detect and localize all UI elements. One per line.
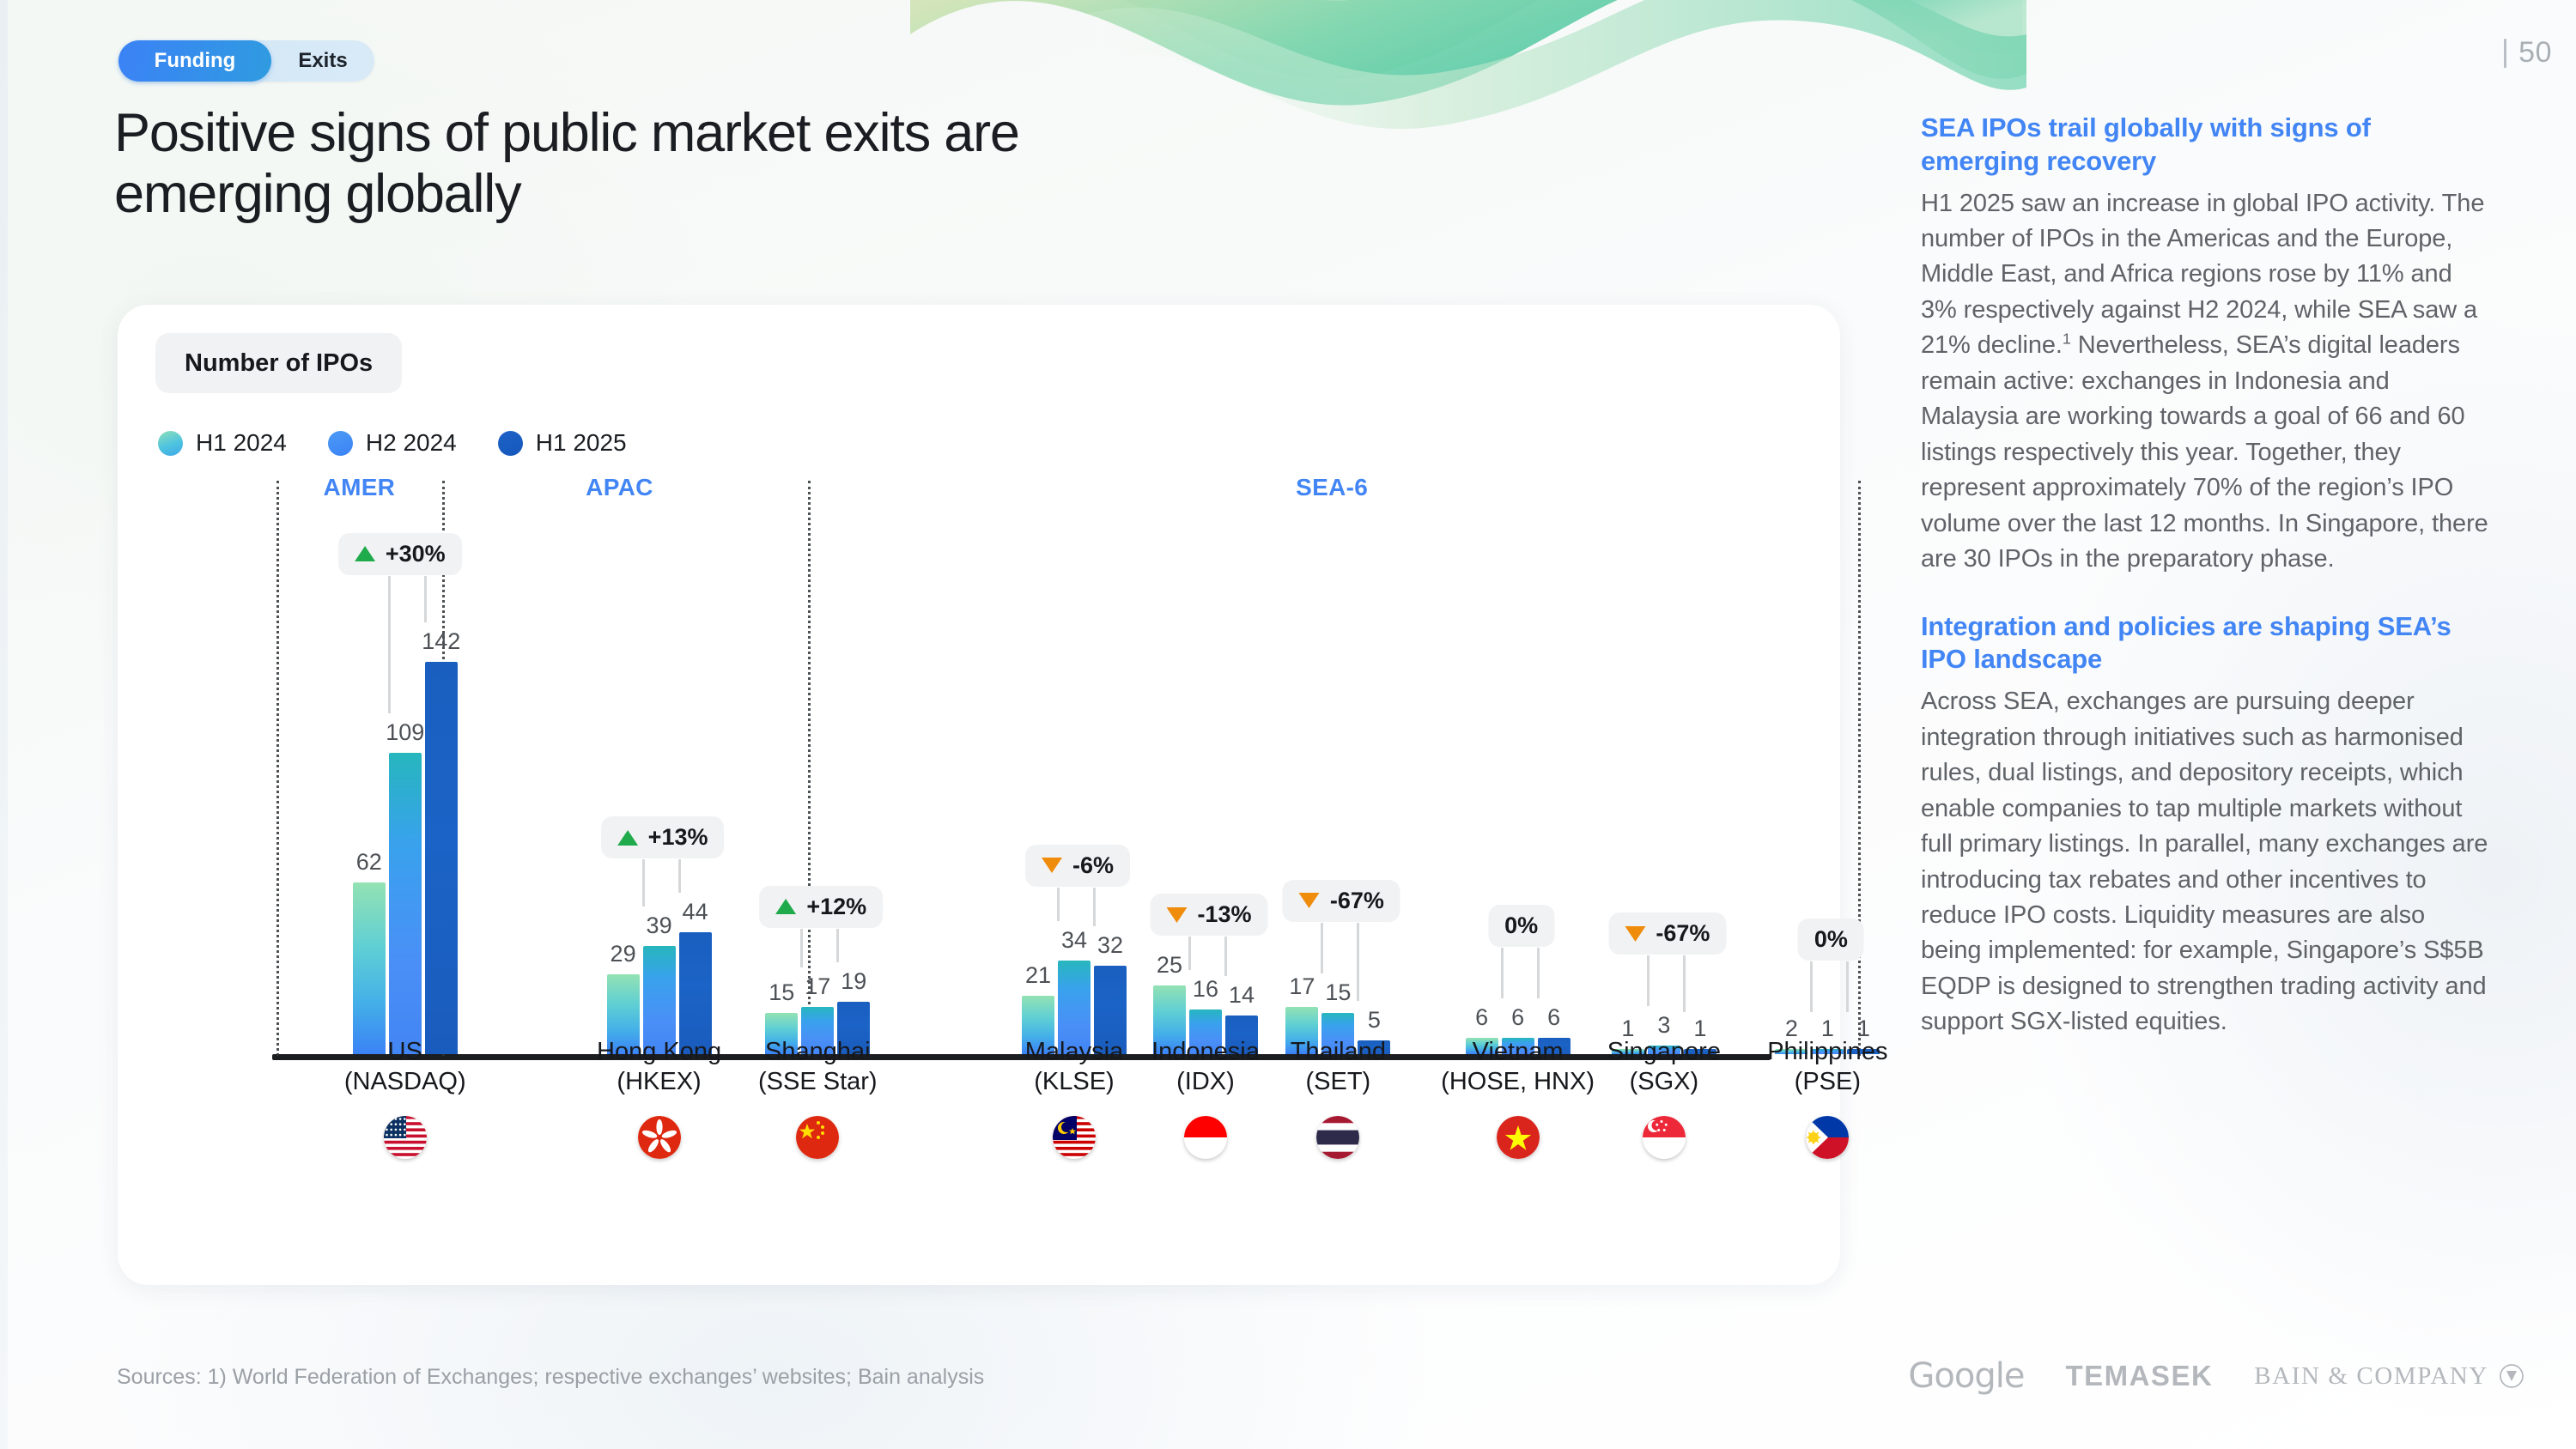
bar-group: 293944 (607, 932, 712, 1054)
exchange-name: (NASDAQ) (294, 1067, 517, 1097)
partner-logos: Google TEMASEK BAIN & COMPANY (1908, 1356, 2524, 1396)
region-divider (276, 481, 279, 1056)
chart-card: Number of IPOs H1 2024 H2 2024 H1 2025 A… (118, 305, 1840, 1285)
change-value: +12% (806, 894, 866, 920)
sources-note: Sources: 1) World Federation of Exchange… (117, 1365, 984, 1390)
bar-value-label: 32 (1097, 932, 1123, 959)
bar-value-label: 109 (386, 719, 424, 746)
bar-value-label: 34 (1061, 927, 1087, 954)
change-badge-us: +30% (338, 533, 462, 575)
leader-line (1683, 955, 1686, 1011)
thailand-flag-icon (1316, 1116, 1359, 1159)
leader-line (1224, 937, 1227, 975)
insight-heading: SEA IPOs trail globally with signs of em… (1921, 112, 2489, 179)
leader-line (642, 859, 645, 906)
legend-item-h1-2024: H1 2024 (158, 429, 287, 457)
change-value: -13% (1197, 901, 1251, 928)
tab-funding[interactable]: Funding (118, 40, 271, 82)
arrow-down-icon (1042, 858, 1062, 873)
legend-label: H1 2025 (536, 429, 627, 457)
leader-line (1357, 923, 1359, 1001)
change-value: -67% (1330, 888, 1384, 914)
page-title: Positive signs of public market exits ar… (114, 103, 1248, 224)
legend-item-h2-2024: H2 2024 (328, 429, 457, 457)
bar-value-label: 6 (1511, 1004, 1524, 1031)
section-toggle[interactable]: Funding Exits (118, 40, 374, 82)
bain-logo-text: BAIN & COMPANY (2254, 1362, 2488, 1391)
bar-value-label: 62 (356, 849, 382, 876)
bar-value-label: 15 (1325, 979, 1351, 1006)
leader-line (1647, 955, 1649, 1006)
arrow-down-icon (1299, 893, 1320, 908)
left-edge-accent (0, 0, 8, 1449)
insight-body: Across SEA, exchanges are pursuing deepe… (1921, 684, 2489, 1040)
leader-line (836, 929, 839, 962)
country-name: Philippines (1716, 1037, 1939, 1067)
google-logo: Google (1908, 1356, 2024, 1396)
china-flag-icon (796, 1116, 839, 1159)
bar-value-label: 19 (841, 968, 866, 995)
leader-line (1846, 961, 1849, 1012)
legend-item-h1-2025: H1 2025 (498, 429, 627, 457)
leader-line (388, 576, 391, 713)
bar-value-label: 25 (1157, 952, 1182, 979)
arrow-up-icon (775, 899, 796, 914)
arrow-down-icon (1166, 907, 1187, 923)
change-value: -67% (1656, 920, 1710, 947)
change-badge-singapore: -67% (1608, 912, 1726, 955)
country-name: US (294, 1037, 517, 1067)
change-value: +30% (386, 541, 446, 567)
bar-value-label: 5 (1368, 1007, 1381, 1034)
indonesia-flag-icon (1184, 1116, 1227, 1159)
insights-panel: SEA IPOs trail globally with signs of em… (1921, 112, 2489, 1040)
leader-line (424, 576, 427, 622)
legend-swatch-icon (328, 431, 353, 456)
tab-exits[interactable]: Exits (271, 40, 374, 82)
temasek-logo: TEMASEK (2065, 1360, 2213, 1392)
leader-line (1537, 948, 1540, 998)
bar-h1-2024: 62 (353, 882, 386, 1054)
bar-value-label: 16 (1193, 976, 1218, 1003)
leader-line (1057, 888, 1060, 921)
leader-line (1093, 888, 1096, 926)
legend-label: H1 2024 (196, 429, 287, 457)
page-number: 50 (2504, 36, 2552, 70)
leader-line (1501, 948, 1504, 998)
change-badge-shanghai: +12% (759, 886, 883, 928)
bar-value-label: 6 (1475, 1004, 1488, 1031)
philippines-flag-icon (1806, 1116, 1849, 1159)
region-label-sea-6: SEA-6 (1296, 474, 1368, 501)
leader-line (678, 859, 681, 893)
insight-block-2: Integration and policies are shaping SEA… (1921, 610, 2489, 1040)
singapore-flag-icon (1643, 1116, 1686, 1159)
bar-value-label: 21 (1025, 962, 1051, 989)
region-divider (1858, 481, 1861, 1056)
bar-value-label: 17 (1289, 973, 1315, 1000)
change-value: -6% (1072, 852, 1114, 879)
leader-line (1188, 937, 1191, 970)
malaysia-flag-icon (1053, 1116, 1096, 1159)
bain-logo: BAIN & COMPANY (2254, 1362, 2524, 1391)
arrow-up-icon (617, 830, 638, 846)
bar-value-label: 142 (422, 628, 460, 655)
change-badge-indonesia: -13% (1150, 894, 1267, 936)
page-number-value: 50 (2518, 36, 2552, 70)
change-badge-philippines: 0% (1798, 919, 1864, 961)
bar-value-label: 17 (805, 973, 830, 1000)
change-value: 0% (1814, 926, 1848, 953)
legend-label: H2 2024 (366, 429, 457, 457)
bar-group: 62109142 (353, 662, 458, 1054)
change-badge-thailand: -67% (1283, 880, 1400, 922)
legend-swatch-icon (498, 431, 523, 456)
region-divider (808, 481, 811, 1056)
footnote-marker: 1 (2063, 330, 2071, 348)
country-name: Shanghai (706, 1037, 929, 1067)
bar-value-label: 3 (1657, 1012, 1670, 1039)
legend-swatch-icon (158, 431, 183, 456)
arrow-down-icon (1625, 926, 1645, 942)
bar-value-label: 15 (769, 979, 794, 1006)
bar-h1-2025: 142 (425, 662, 458, 1054)
chart-metric-chip: Number of IPOs (155, 333, 402, 393)
exchange-name: (SSE Star) (706, 1067, 929, 1097)
bar-value-label: 29 (611, 941, 636, 967)
bar-h1-2025: 44 (679, 932, 712, 1054)
chart-plot-area: AMERAPACSEA-662109142+30%US(NASDAQ)29394… (118, 481, 1840, 1159)
leader-line (800, 929, 803, 967)
change-value: 0% (1504, 912, 1538, 939)
change-value: +13% (648, 824, 708, 851)
change-badge-malaysia: -6% (1025, 845, 1130, 887)
insight-body: H1 2025 saw an increase in global IPO ac… (1921, 186, 2489, 578)
chart-legend: H1 2024 H2 2024 H1 2025 (158, 429, 627, 457)
exchange-name: (PSE) (1716, 1067, 1939, 1097)
leader-line (1321, 923, 1323, 973)
region-label-apac: APAC (586, 474, 653, 501)
change-badge-vietnam: 0% (1488, 905, 1554, 947)
insight-body-part2: Nevertheless, SEA’s digital leaders rema… (1921, 331, 2488, 573)
x-axis-category: Shanghai(SSE Star) (706, 1037, 929, 1159)
x-axis-category: US(NASDAQ) (294, 1037, 517, 1159)
bar-value-label: 39 (647, 912, 672, 939)
leader-line (1810, 961, 1813, 1012)
hong-kong-flag-icon (638, 1116, 681, 1159)
region-label-amer: AMER (324, 474, 396, 501)
insight-block-1: SEA IPOs trail globally with signs of em… (1921, 112, 2489, 578)
x-axis-category: Philippines(PSE) (1716, 1037, 1939, 1159)
bain-mark-icon (2499, 1363, 2524, 1389)
vietnam-flag-icon (1497, 1116, 1540, 1159)
insight-heading: Integration and policies are shaping SEA… (1921, 610, 2489, 677)
bar-h2-2024: 109 (389, 753, 422, 1054)
change-badge-hong kong: +13% (601, 816, 725, 858)
bar-value-label: 6 (1547, 1004, 1560, 1031)
bar-value-label: 44 (683, 899, 708, 925)
arrow-up-icon (355, 546, 375, 561)
us-flag-icon (384, 1116, 427, 1159)
bar-value-label: 14 (1229, 982, 1255, 1009)
page-number-divider (2504, 39, 2506, 68)
